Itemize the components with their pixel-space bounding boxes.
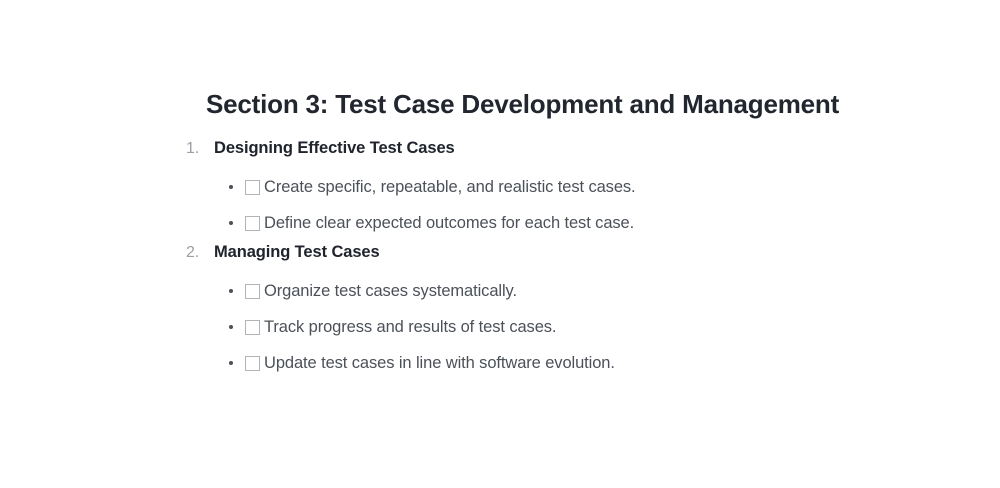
list-item[interactable]: Track progress and results of test cases… [186, 309, 966, 345]
checkbox-unchecked-icon[interactable] [245, 284, 260, 299]
list-item[interactable]: Update test cases in line with software … [186, 345, 966, 381]
list-item-label: Create specific, repeatable, and realist… [264, 179, 636, 196]
bullet-dot-icon [228, 179, 245, 196]
outline-section: 2. Managing Test Cases Organize test cas… [186, 243, 966, 381]
slide-canvas: Section 3: Test Case Development and Man… [0, 0, 1000, 488]
outline-section: 1. Designing Effective Test Cases Create… [186, 139, 966, 241]
section-number-marker: 1. [186, 140, 214, 158]
page-title: Section 3: Test Case Development and Man… [206, 89, 839, 120]
checkbox-unchecked-icon[interactable] [245, 216, 260, 231]
outline-list: 1. Designing Effective Test Cases Create… [186, 139, 966, 381]
section-heading-row[interactable]: 2. Managing Test Cases [186, 243, 966, 273]
list-item[interactable]: Create specific, repeatable, and realist… [186, 169, 966, 205]
section-number-marker: 2. [186, 244, 214, 262]
section-heading-row[interactable]: 1. Designing Effective Test Cases [186, 139, 966, 169]
bullet-dot-icon [228, 283, 245, 300]
bullet-list: Create specific, repeatable, and realist… [186, 169, 966, 241]
list-item-label: Track progress and results of test cases… [264, 319, 556, 336]
checkbox-unchecked-icon[interactable] [245, 320, 260, 335]
section-heading-label: Managing Test Cases [214, 243, 380, 262]
list-item-label: Update test cases in line with software … [264, 355, 615, 372]
list-item-label: Define clear expected outcomes for each … [264, 215, 634, 232]
bullet-dot-icon [228, 319, 245, 336]
list-item[interactable]: Define clear expected outcomes for each … [186, 205, 966, 241]
bullet-list: Organize test cases systematically. Trac… [186, 273, 966, 381]
list-item[interactable]: Organize test cases systematically. [186, 273, 966, 309]
bullet-dot-icon [228, 355, 245, 372]
section-heading-label: Designing Effective Test Cases [214, 139, 455, 158]
checkbox-unchecked-icon[interactable] [245, 356, 260, 371]
bullet-dot-icon [228, 215, 245, 232]
list-item-label: Organize test cases systematically. [264, 283, 517, 300]
checkbox-unchecked-icon[interactable] [245, 180, 260, 195]
